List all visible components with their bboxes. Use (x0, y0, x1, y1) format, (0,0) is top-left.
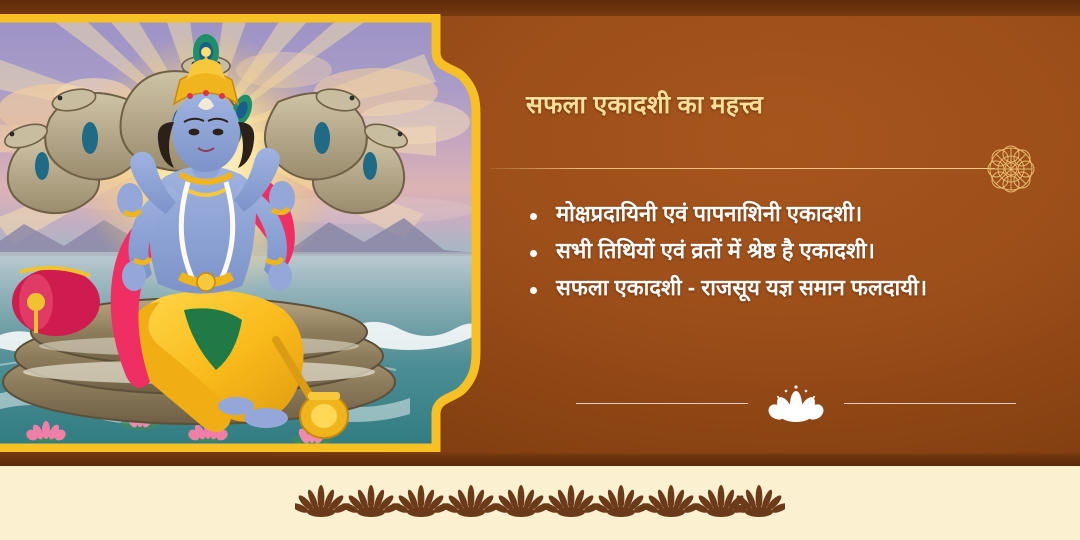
lotus-icon (766, 383, 826, 423)
footer-band (0, 466, 1080, 540)
gold-rule (490, 168, 995, 169)
list-item: सभी तिथियों एवं व्रतों में श्रेष्ठ है एक… (522, 235, 1068, 267)
artwork-image (0, 14, 486, 452)
bolster-cushion (12, 268, 100, 336)
content-column: सफला एकादशी का महत्त्व (500, 0, 1080, 466)
list-item: मोक्षप्रदायिनी एवं पापनाशिनी एकादशी। (522, 198, 1068, 230)
page-title: सफला एकादशी का महत्त्व (526, 90, 1046, 121)
lotus-divider (576, 383, 1016, 423)
list-item: सफला एकादशी - राजसूय यज्ञ समान फलदायी। (522, 272, 1068, 304)
artwork-frame (0, 14, 486, 452)
mandala-rosette-icon (980, 140, 1042, 198)
divider-line-right (844, 403, 1016, 404)
infographic-card: सफला एकादशी का महत्त्व (0, 0, 1080, 540)
divider-line-left (576, 403, 748, 404)
bullet-list: मोक्षप्रदायिनी एवं पापनाशिनी एकादशी। सभी… (522, 198, 1068, 309)
lotus-palmette-border (295, 482, 785, 522)
